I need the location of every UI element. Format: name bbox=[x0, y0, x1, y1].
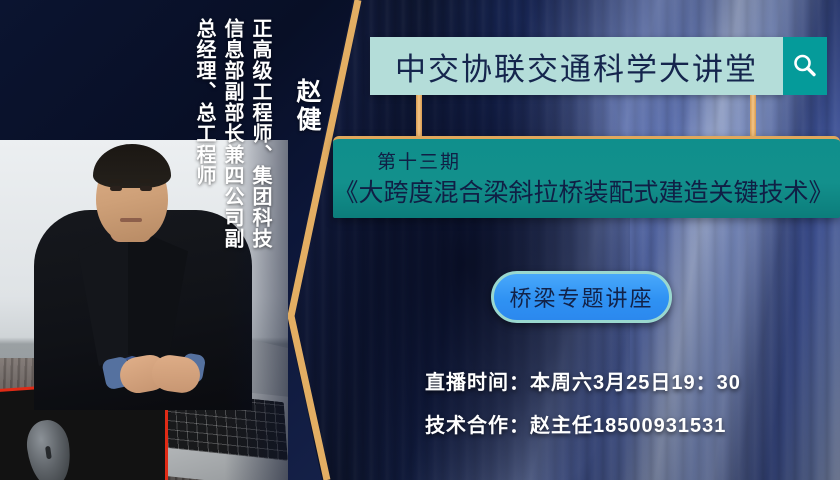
category-button-label: 桥梁专题讲座 bbox=[509, 281, 653, 313]
subtitle-banner: 第十三期 《大跨度混合梁斜拉桥装配式建造关键技术》 bbox=[333, 136, 840, 218]
contact-text: 技术合作：赵主任18500931531 bbox=[425, 409, 726, 438]
search-button[interactable] bbox=[783, 37, 827, 95]
episode-label: 第十三期 bbox=[377, 147, 461, 174]
live-time-text: 直播时间：本周六3月25日19：30 bbox=[425, 366, 741, 395]
speaker-title-line-2: 信息部副部长兼四公司副 bbox=[218, 18, 247, 249]
page-title: 中交协联交通科学大讲堂 bbox=[395, 44, 758, 89]
speaker-name: 赵健 bbox=[289, 78, 325, 134]
webinar-poster: 赵健 正高级工程师、集团科技 信息部副部长兼四公司副 总经理、总工程师 中交协联… bbox=[0, 0, 840, 480]
topic-title: 《大跨度混合梁斜拉桥装配式建造关键技术》 bbox=[333, 173, 834, 209]
banner-connector-left bbox=[416, 95, 422, 137]
speaker-title-line-3: 总经理、总工程师 bbox=[190, 18, 219, 186]
category-button[interactable]: 桥梁专题讲座 bbox=[491, 271, 672, 323]
speaker-title-line-1: 正高级工程师、集团科技 bbox=[246, 18, 275, 249]
search-icon bbox=[792, 53, 818, 79]
banner-connector-right bbox=[750, 95, 756, 137]
main-title-banner: 中交协联交通科学大讲堂 bbox=[370, 37, 783, 95]
